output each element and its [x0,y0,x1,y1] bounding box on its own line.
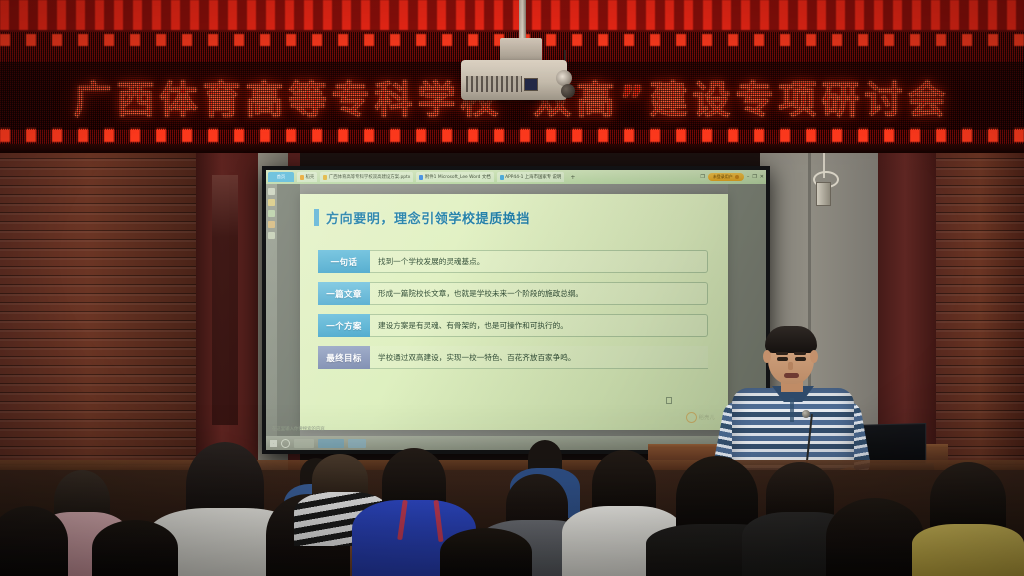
left-pillar-gloss [212,175,238,425]
taskbar-item-1[interactable] [294,439,314,448]
speaker-right-eye [795,357,806,361]
speaker-left-brow [776,352,788,355]
speaker-left-eye [777,357,788,361]
tab-label-1: 广西体育高等专科学校双高建设方案.pptx [329,174,411,180]
tab-label-0: 稻壳 [306,174,315,180]
speaker-placket [790,398,794,422]
sidebar-toggle-icon[interactable]: ❐ [700,174,704,180]
rail-icon-5[interactable] [268,232,275,239]
slide-row-label: 最终目标 [318,346,370,369]
slide-left-margin [277,184,300,436]
presentation-slide[interactable]: 方向要明，理念引领学校提质换挡 一句话 找到一个学校发展的灵魂基点。 一篇文章 … [300,194,728,430]
taskbar-item-2[interactable] [318,439,344,448]
rail-icon-2[interactable] [268,199,275,206]
right-wood-panel [936,140,1024,470]
left-wood-panel [0,140,196,470]
orange-doc-icon [300,175,304,180]
tab-label-2: 附件1 Microsoft_Lee Word 文档 [425,174,491,180]
slide-row-text: 找到一个学校发展的灵魂基点。 [370,250,708,273]
tabbar-right-group: ❐ 未登录用户 – ❐ ✕ [700,173,766,181]
speaker-hair [765,326,817,353]
rail-icon-3[interactable] [268,210,275,217]
avatar [735,175,739,179]
watermark-logo-icon [686,412,697,423]
led-banner-top-strip [0,0,1024,30]
slide-row-label: 一句话 [318,250,370,273]
blue-doc-icon [419,175,423,180]
conference-room-scene: 广西体育高等专科学校“双高”建设专项研讨会 首页 稻壳 广西体育高等专科学校双高… [0,0,1024,576]
attendee-head [0,506,68,576]
tab-item-2[interactable]: 附件1 Microsoft_Lee Word 文档 [416,172,493,182]
speaker-right-brow [794,352,806,355]
attendee-head [92,520,178,576]
slide-row-text: 建设方案是有灵魂、有骨架的，也是可操作和可执行的。 [370,314,708,337]
slide-title-row: 方向要明，理念引领学校提质换挡 [314,208,530,227]
blue-doc-icon-2 [500,175,504,180]
close-icon[interactable]: ✕ [760,174,764,180]
projection-screen[interactable]: 首页 稻壳 广西体育高等专科学校双高建设方案.pptx 附件1 Microsof… [266,170,766,450]
orange-ppt-icon [323,175,327,180]
slide-rows: 一句话 找到一个学校发展的灵魂基点。 一篇文章 形成一篇院校长文章，也就是学校未… [318,250,708,378]
login-label: 未登录用户 [713,174,733,180]
slide-row-text: 学校通过双高建设，实现一校一特色、百花齐放百家争鸣。 [370,346,708,369]
taskbar-search-hint: 在这里输入你要搜索的内容 [272,426,325,432]
slide-row: 一个方案 建设方案是有灵魂、有骨架的，也是可操作和可执行的。 [318,314,708,337]
ceiling-sensor-icon [816,182,831,206]
taskbar-item-3[interactable] [348,439,366,448]
attendee-head [826,498,924,576]
slide-row: 最终目标 学校通过双高建设，实现一校一特色、百花齐放百家争鸣。 [318,346,708,369]
wps-tabbar[interactable]: 首页 稻壳 广西体育高等专科学校双高建设方案.pptx 附件1 Microsof… [266,170,766,184]
title-accent-bar [314,209,319,226]
login-button[interactable]: 未登录用户 [708,173,744,181]
speaker-mouth [784,373,799,378]
microphone-icon [802,410,810,418]
tab-item-3[interactable]: APP44-1 上海市国家专 说明 [497,172,565,182]
speaker-nose [788,362,793,370]
tab-item-1[interactable]: 广西体育高等专科学校双高建设方案.pptx [320,172,413,182]
attendee-body [912,524,1024,576]
speaker-left-ear [763,350,771,363]
search-icon[interactable] [281,439,290,448]
speaker-right-ear [810,350,818,363]
tab-item-0[interactable]: 稻壳 [297,172,317,182]
slide-text-cursor [666,397,672,404]
slide-watermark: 稻壳儿 [686,412,715,423]
slide-row: 一句话 找到一个学校发展的灵魂基点。 [318,250,708,273]
slide-title: 方向要明，理念引领学校提质换挡 [326,208,530,227]
projector-port [524,78,538,91]
tab-home[interactable]: 首页 [268,172,294,182]
slide-row: 一篇文章 形成一篇院校长文章，也就是学校未来一个阶段的施政总纲。 [318,282,708,305]
rail-icon-1[interactable] [268,188,275,195]
slide-row-text: 形成一篇院校长文章，也就是学校未来一个阶段的施政总纲。 [370,282,708,305]
new-tab-button[interactable]: + [570,174,575,181]
watermark-label: 稻壳儿 [699,414,715,421]
tab-label-3: APP44-1 上海市国家专 说明 [505,174,561,180]
led-banner-bottom-edge [0,144,1024,153]
projector-vents [466,76,522,92]
minimize-icon[interactable]: – [747,174,750,180]
led-banner-bottom-row [0,128,1024,142]
rail-icon-4[interactable] [268,221,275,228]
attendee-head [440,528,532,576]
slide-row-label: 一篇文章 [318,282,370,305]
right-pillar [878,140,938,470]
maximize-icon[interactable]: ❐ [752,174,756,180]
windows-start-icon[interactable] [270,440,277,447]
wps-left-rail[interactable] [266,184,277,436]
projector-knob [561,84,575,98]
slide-row-label: 一个方案 [318,314,370,337]
